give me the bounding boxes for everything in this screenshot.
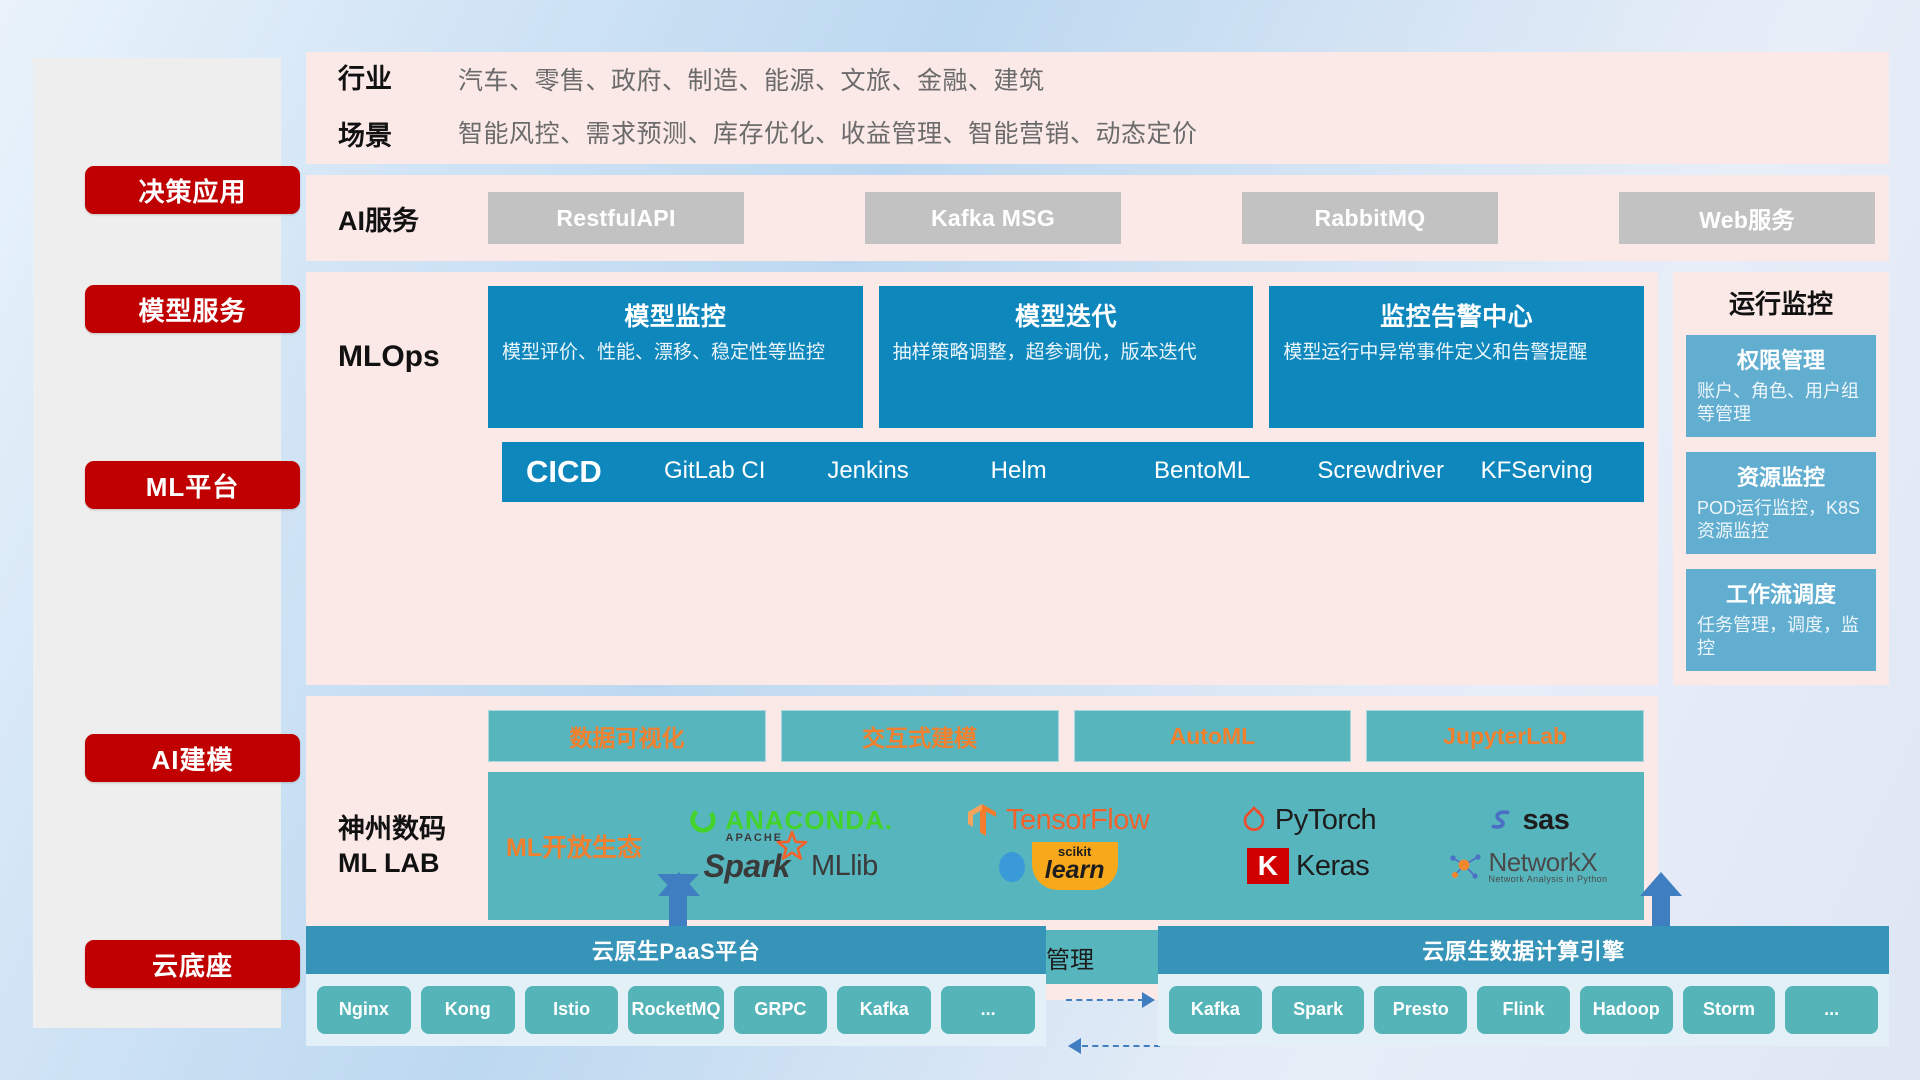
logo-sas: sas bbox=[1423, 804, 1632, 837]
paas-tag-more[interactable]: ... bbox=[941, 986, 1035, 1034]
anaconda-icon bbox=[688, 805, 718, 835]
scenario-label: 场景 bbox=[338, 123, 458, 150]
logo-networkx: NetworkX Network Analysis in Python bbox=[1423, 849, 1632, 884]
engine-tag-kafka[interactable]: Kafka bbox=[1169, 986, 1262, 1034]
rail-label: 模型服务 bbox=[138, 291, 246, 328]
cicd-bar: CICD GitLab CI Jenkins Helm BentoML Scre… bbox=[502, 442, 1644, 502]
cicd-item-helm[interactable]: Helm bbox=[991, 454, 1154, 488]
spark-star-icon bbox=[776, 830, 808, 862]
band-divider bbox=[306, 164, 1889, 175]
ai-service-chips: RestfulAPI Kafka MSG RabbitMQ Web服务 bbox=[488, 192, 1889, 244]
tool-chip-data-visualization[interactable]: 数据可视化 bbox=[488, 710, 766, 762]
cicd-item-bentoml[interactable]: BentoML bbox=[1154, 454, 1317, 488]
ml-lab-title-line1: 神州数码 bbox=[338, 813, 446, 847]
band-divider bbox=[306, 261, 1889, 272]
logo-pytorch: PyTorch bbox=[1193, 804, 1423, 837]
cicd-label: CICD bbox=[502, 454, 664, 490]
monitoring-card-title: 工作流调度 bbox=[1697, 577, 1865, 609]
tensorflow-icon bbox=[965, 802, 999, 838]
logo-spark-apache-text: APACHE bbox=[726, 832, 784, 844]
band-divider bbox=[306, 685, 1658, 696]
mlops-inner: MLOps 模型监控 模型评价、性能、漂移、稳定性等监控 模型迭代 抽样策略调整… bbox=[306, 286, 1658, 428]
paas-tag-istio[interactable]: Istio bbox=[525, 986, 619, 1034]
logo-learn-text: learn bbox=[1045, 859, 1105, 883]
ai-service-chip-rabbitmq[interactable]: RabbitMQ bbox=[1242, 192, 1498, 244]
runtime-monitoring-title: 运行监控 bbox=[1686, 284, 1876, 321]
mlops-card-desc: 模型评价、性能、漂移、稳定性等监控 bbox=[502, 341, 849, 366]
rail-item-model-service[interactable]: 模型服务 bbox=[85, 285, 300, 333]
mlops-card-desc: 抽样策略调整，超参调优，版本迭代 bbox=[893, 341, 1240, 366]
data-compute-engine-tags: Kafka Spark Presto Flink Hadoop Storm ..… bbox=[1158, 974, 1889, 1046]
mlops-card-model-monitoring[interactable]: 模型监控 模型评价、性能、漂移、稳定性等监控 bbox=[488, 286, 863, 428]
mlops-band: MLOps 模型监控 模型评价、性能、漂移、稳定性等监控 模型迭代 抽样策略调整… bbox=[306, 272, 1658, 685]
logo-sas-text: sas bbox=[1523, 804, 1570, 837]
keras-mark-icon: K bbox=[1247, 848, 1289, 884]
industry-scenario-band: 行业 场景 汽车、零售、政府、制造、能源、文旅、金融、建筑 智能风控、需求预测、… bbox=[306, 52, 1889, 164]
mlops-card-alert-center[interactable]: 监控告警中心 模型运行中异常事件定义和告警提醒 bbox=[1269, 286, 1644, 428]
engine-tag-storm[interactable]: Storm bbox=[1683, 986, 1776, 1034]
paas-tag-nginx[interactable]: Nginx bbox=[317, 986, 411, 1034]
rail-item-ai-modeling[interactable]: AI建模 bbox=[85, 734, 300, 782]
architecture-diagram: 决策应用 模型服务 ML平台 AI建模 云底座 行业 场景 汽车、零售、政府、制… bbox=[0, 0, 1920, 1080]
data-compute-engine-title: 云原生数据计算引擎 bbox=[1158, 926, 1889, 974]
main-column: 行业 场景 汽车、零售、政府、制造、能源、文旅、金融、建筑 智能风控、需求预测、… bbox=[306, 52, 1889, 1000]
rail-label: 云底座 bbox=[152, 946, 233, 983]
logo-tensorflow-text: TensorFlow bbox=[1006, 804, 1149, 837]
logo-keras: K Keras bbox=[1193, 848, 1423, 884]
cicd-item-screwdriver[interactable]: Screwdriver bbox=[1317, 454, 1480, 488]
monitoring-card-desc: 任务管理，调度，监控 bbox=[1697, 614, 1865, 660]
rail-label: ML平台 bbox=[146, 467, 240, 504]
rail-item-cloud-foundation[interactable]: 云底座 bbox=[85, 940, 300, 988]
engine-tag-presto[interactable]: Presto bbox=[1374, 986, 1467, 1034]
engine-tag-more[interactable]: ... bbox=[1785, 986, 1878, 1034]
scenario-value: 智能风控、需求预测、库存优化、收益管理、智能营销、动态定价 bbox=[458, 122, 1889, 147]
cloud-foundation-section: 云原生PaaS平台 Nginx Kong Istio RocketMQ GRPC… bbox=[306, 882, 1889, 1042]
sas-icon bbox=[1486, 805, 1516, 835]
cicd-item-jenkins[interactable]: Jenkins bbox=[827, 454, 990, 488]
engine-tag-hadoop[interactable]: Hadoop bbox=[1580, 986, 1673, 1034]
engine-tag-spark[interactable]: Spark bbox=[1272, 986, 1365, 1034]
logo-mllib-text: MLlib bbox=[811, 850, 878, 883]
cicd-item-kfserving[interactable]: KFServing bbox=[1481, 454, 1644, 488]
industry-label: 行业 bbox=[338, 66, 458, 93]
mlops-card-model-iteration[interactable]: 模型迭代 抽样策略调整，超参调优，版本迭代 bbox=[879, 286, 1254, 428]
modeling-tools-row: 数据可视化 交互式建模 AutoML JupyterLab bbox=[488, 710, 1644, 762]
mlops-title: MLOps bbox=[338, 286, 488, 428]
ai-service-chip-kafka-msg[interactable]: Kafka MSG bbox=[865, 192, 1121, 244]
mlops-row: MLOps 模型监控 模型评价、性能、漂移、稳定性等监控 模型迭代 抽样策略调整… bbox=[306, 272, 1889, 685]
mlops-card-title: 监控告警中心 bbox=[1283, 297, 1630, 333]
monitoring-card-desc: 账户、角色、用户组等管理 bbox=[1697, 380, 1865, 426]
paas-tag-rocketmq[interactable]: RocketMQ bbox=[628, 986, 723, 1034]
monitoring-card-desc: POD运行监控，K8S资源监控 bbox=[1697, 497, 1865, 543]
monitoring-card-title: 资源监控 bbox=[1697, 460, 1865, 492]
monitoring-card-resource[interactable]: 资源监控 POD运行监控，K8S资源监控 bbox=[1686, 452, 1876, 554]
paas-tag-kafka[interactable]: Kafka bbox=[837, 986, 931, 1034]
engine-tag-flink[interactable]: Flink bbox=[1477, 986, 1570, 1034]
industry-scenario-values: 汽车、零售、政府、制造、能源、文旅、金融、建筑 智能风控、需求预测、库存优化、收… bbox=[458, 69, 1889, 147]
logo-keras-text: Keras bbox=[1296, 850, 1369, 883]
ml-lab-title-line2: ML LAB bbox=[338, 847, 446, 881]
runtime-monitoring-rail: 运行监控 权限管理 账户、角色、用户组等管理 资源监控 POD运行监控，K8S资… bbox=[1673, 272, 1889, 685]
tool-chip-jupyterlab[interactable]: JupyterLab bbox=[1366, 710, 1644, 762]
paas-platform-title: 云原生PaaS平台 bbox=[306, 926, 1046, 974]
industry-value: 汽车、零售、政府、制造、能源、文旅、金融、建筑 bbox=[458, 69, 1889, 94]
paas-tag-kong[interactable]: Kong bbox=[421, 986, 515, 1034]
ai-service-title: AI服务 bbox=[338, 199, 488, 238]
rail-item-ml-platform[interactable]: ML平台 bbox=[85, 461, 300, 509]
paas-tag-grpc[interactable]: GRPC bbox=[734, 986, 828, 1034]
monitoring-card-permission[interactable]: 权限管理 账户、角色、用户组等管理 bbox=[1686, 335, 1876, 437]
ai-service-chip-restfulapi[interactable]: RestfulAPI bbox=[488, 192, 744, 244]
paas-platform: 云原生PaaS平台 Nginx Kong Istio RocketMQ GRPC… bbox=[306, 926, 1046, 1046]
monitoring-card-workflow[interactable]: 工作流调度 任务管理，调度，监控 bbox=[1686, 569, 1876, 671]
networkx-icon bbox=[1448, 850, 1482, 882]
layer-rail: 决策应用 模型服务 ML平台 AI建模 bbox=[33, 58, 281, 1028]
pytorch-icon bbox=[1240, 804, 1268, 836]
cicd-items: GitLab CI Jenkins Helm BentoML Screwdriv… bbox=[664, 455, 1644, 489]
paas-platform-tags: Nginx Kong Istio RocketMQ GRPC Kafka ... bbox=[306, 974, 1046, 1046]
ai-service-band: AI服务 RestfulAPI Kafka MSG RabbitMQ Web服务 bbox=[306, 175, 1889, 261]
cicd-item-gitlab-ci[interactable]: GitLab CI bbox=[664, 454, 827, 488]
mlops-cards: 模型监控 模型评价、性能、漂移、稳定性等监控 模型迭代 抽样策略调整，超参调优，… bbox=[488, 286, 1658, 428]
mlops-card-title: 模型监控 bbox=[502, 297, 849, 333]
rail-item-decision-app[interactable]: 决策应用 bbox=[85, 166, 300, 214]
monitoring-card-title: 权限管理 bbox=[1697, 343, 1865, 375]
rail-label: 决策应用 bbox=[138, 172, 246, 209]
mlops-card-desc: 模型运行中异常事件定义和告警提醒 bbox=[1283, 341, 1630, 366]
logo-tensorflow: TensorFlow bbox=[921, 802, 1193, 838]
logo-pytorch-text: PyTorch bbox=[1275, 804, 1376, 837]
industry-scenario-labels: 行业 场景 bbox=[338, 66, 458, 150]
mlops-card-title: 模型迭代 bbox=[893, 297, 1240, 333]
rail-label: AI建模 bbox=[151, 740, 233, 777]
data-compute-engine: 云原生数据计算引擎 Kafka Spark Presto Flink Hadoo… bbox=[1158, 926, 1889, 1046]
logo-networkx-text: NetworkX bbox=[1489, 849, 1608, 875]
ai-service-chip-web-service[interactable]: Web服务 bbox=[1619, 192, 1875, 244]
tool-chip-automl[interactable]: AutoML bbox=[1074, 710, 1352, 762]
tool-chip-interactive-modeling[interactable]: 交互式建模 bbox=[781, 710, 1059, 762]
